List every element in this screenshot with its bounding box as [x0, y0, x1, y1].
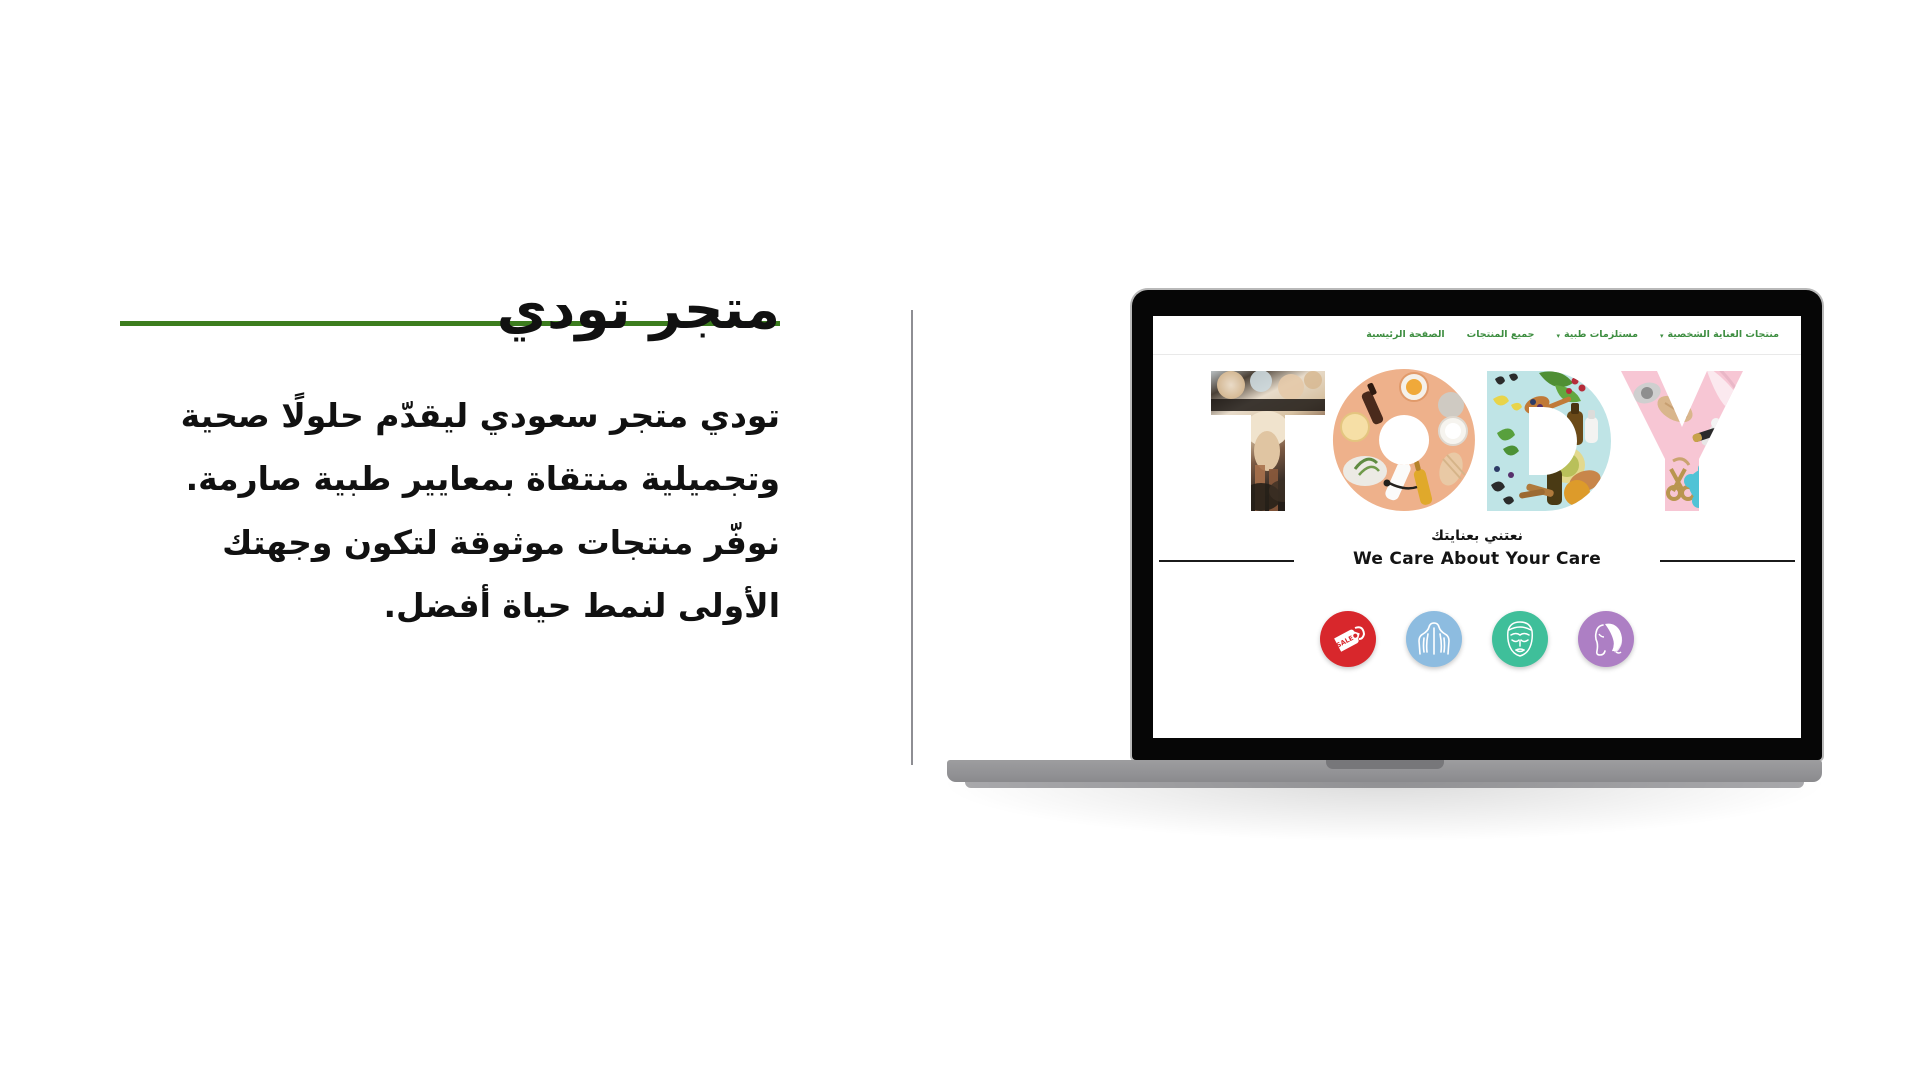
laptop-lid: منتجات العناية الشخصية ▾ مستلزمات طبية ▾… — [1132, 290, 1822, 760]
wordmark-letter-d — [1481, 365, 1617, 513]
tagline-arabic: نعتني بعنايتك — [1153, 527, 1801, 546]
category-face[interactable] — [1492, 611, 1548, 667]
nav-item-personal-care[interactable]: منتجات العناية الشخصية ▾ — [1660, 330, 1779, 340]
laptop-base-foot — [965, 782, 1804, 788]
body-paragraph: تودي متجر سعودي ليقدّم حلولًا صحية وتجمي… — [120, 384, 780, 637]
category-body[interactable] — [1406, 611, 1462, 667]
tagline-english: We Care About Your Care — [1153, 548, 1801, 572]
page-title: متجر تودي — [120, 270, 780, 348]
tagline-text: نعتني بعنايتك We Care About Your Care — [1153, 527, 1801, 572]
text-column: متجر تودي تودي متجر سعودي ليقدّم حلولًا … — [120, 270, 780, 637]
tody-wordmark — [1153, 365, 1801, 513]
nav-item-label: مستلزمات طبية — [1564, 330, 1638, 340]
site-nav: منتجات العناية الشخصية ▾ مستلزمات طبية ▾… — [1153, 316, 1801, 354]
wordmark-letter-y — [1619, 365, 1745, 513]
nav-item-label: الصفحة الرئيسية — [1366, 330, 1444, 340]
laptop-base-notch — [1326, 760, 1444, 769]
nav-item-label: جميع المنتجات — [1467, 330, 1535, 340]
category-hair[interactable] — [1578, 611, 1634, 667]
laptop-shadow — [937, 782, 1832, 842]
nav-item-medical-supplies[interactable]: مستلزمات طبية ▾ — [1556, 330, 1638, 340]
chevron-down-icon: ▾ — [1556, 333, 1560, 340]
slide-root: متجر تودي تودي متجر سعودي ليقدّم حلولًا … — [0, 0, 1920, 1080]
nav-item-home[interactable]: الصفحة الرئيسية — [1366, 330, 1444, 340]
hero-tagline: نعتني بعنايتك We Care About Your Care — [1153, 527, 1801, 593]
category-row: SALE — [1153, 611, 1801, 667]
category-sale[interactable]: SALE — [1320, 611, 1376, 667]
laptop-base — [947, 760, 1822, 782]
face-icon — [1499, 618, 1541, 660]
wordmark-letter-t — [1209, 365, 1327, 513]
sale-tag-icon: SALE — [1328, 619, 1368, 659]
nav-item-label: منتجات العناية الشخصية — [1667, 330, 1779, 340]
chevron-down-icon: ▾ — [1660, 333, 1664, 340]
vertical-divider — [911, 310, 913, 765]
laptop-screen: منتجات العناية الشخصية ▾ مستلزمات طبية ▾… — [1153, 316, 1801, 738]
body-back-icon — [1413, 618, 1455, 660]
wordmark-letter-o — [1329, 365, 1479, 513]
hero-section: نعتني بعنايتك We Care About Your Care — [1153, 355, 1801, 667]
laptop-mockup: منتجات العناية الشخصية ▾ مستلزمات طبية ▾… — [1040, 290, 1822, 782]
page-title-wrap: متجر تودي — [120, 270, 780, 356]
nav-item-all-products[interactable]: جميع المنتجات — [1467, 330, 1535, 340]
hair-icon — [1585, 618, 1627, 660]
